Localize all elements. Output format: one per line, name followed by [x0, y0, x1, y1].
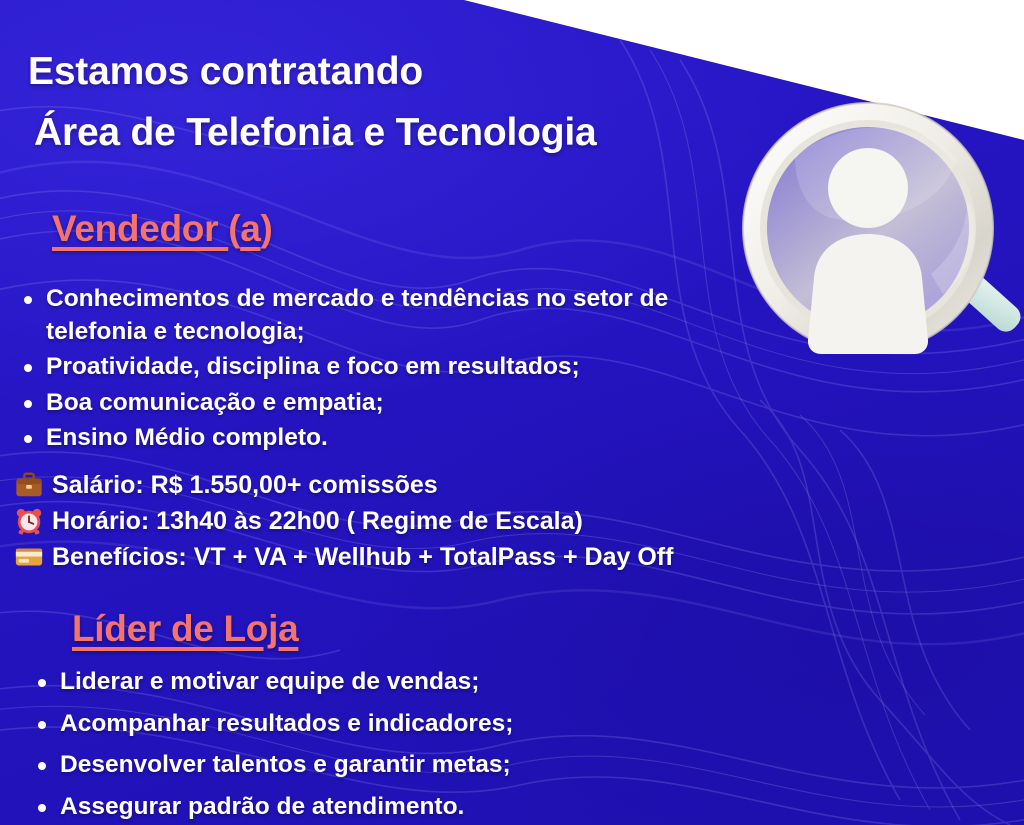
perk-benefits: Benefícios: VT + VA + Wellhub + TotalPas…	[14, 542, 673, 572]
perk-salary-label: Salário: R$ 1.550,00+ comissões	[52, 471, 438, 500]
briefcase-icon	[14, 470, 44, 500]
role-title-lider-text: Líder de Loja	[72, 608, 298, 649]
job-posting-poster: Estamos contratando Área de Telefonia e …	[0, 0, 1024, 825]
role-title-vendedor-a: a	[240, 208, 260, 249]
vendedor-requirements-list: Conhecimentos de mercado e tendências no…	[22, 283, 702, 458]
perk-schedule-label: Horário: 13h40 às 22h00 ( Regime de Esca…	[52, 507, 583, 536]
role-title-vendedor: Vendedor (a)	[52, 208, 273, 250]
list-item: Boa comunicação e empatia;	[22, 387, 702, 420]
list-item: Assegurar padrão de atendimento.	[36, 791, 676, 824]
perk-salary: Salário: R$ 1.550,00+ comissões	[14, 470, 673, 500]
alarm-clock-icon	[14, 506, 44, 536]
role-title-lider: Líder de Loja	[72, 608, 298, 650]
list-item: Proatividade, disciplina e foco em resul…	[22, 351, 702, 384]
perk-schedule: Horário: 13h40 às 22h00 ( Regime de Esca…	[14, 506, 673, 536]
headline-line-2: Área de Telefonia e Tecnologia	[34, 113, 597, 154]
list-item: Ensino Médio completo.	[22, 422, 702, 455]
list-item: Desenvolver talentos e garantir metas;	[36, 749, 676, 782]
lider-responsibilities-list: Liderar e motivar equipe de vendas; Acom…	[36, 666, 676, 825]
credit-card-icon	[14, 542, 44, 572]
list-item: Acompanhar resultados e indicadores;	[36, 708, 676, 741]
poster-content: Estamos contratando Área de Telefonia e …	[0, 0, 1024, 825]
perk-benefits-label: Benefícios: VT + VA + Wellhub + TotalPas…	[52, 543, 673, 572]
headline-line-1: Estamos contratando	[28, 52, 423, 93]
role-title-vendedor-paren-close: )	[261, 208, 273, 249]
vendedor-perks-list: Salário: R$ 1.550,00+ comissões H	[14, 470, 673, 578]
role-title-vendedor-main: Vendedor	[52, 208, 228, 249]
role-title-vendedor-paren-open: (	[228, 208, 240, 249]
list-item: Liderar e motivar equipe de vendas;	[36, 666, 676, 699]
list-item: Conhecimentos de mercado e tendências no…	[22, 283, 702, 348]
